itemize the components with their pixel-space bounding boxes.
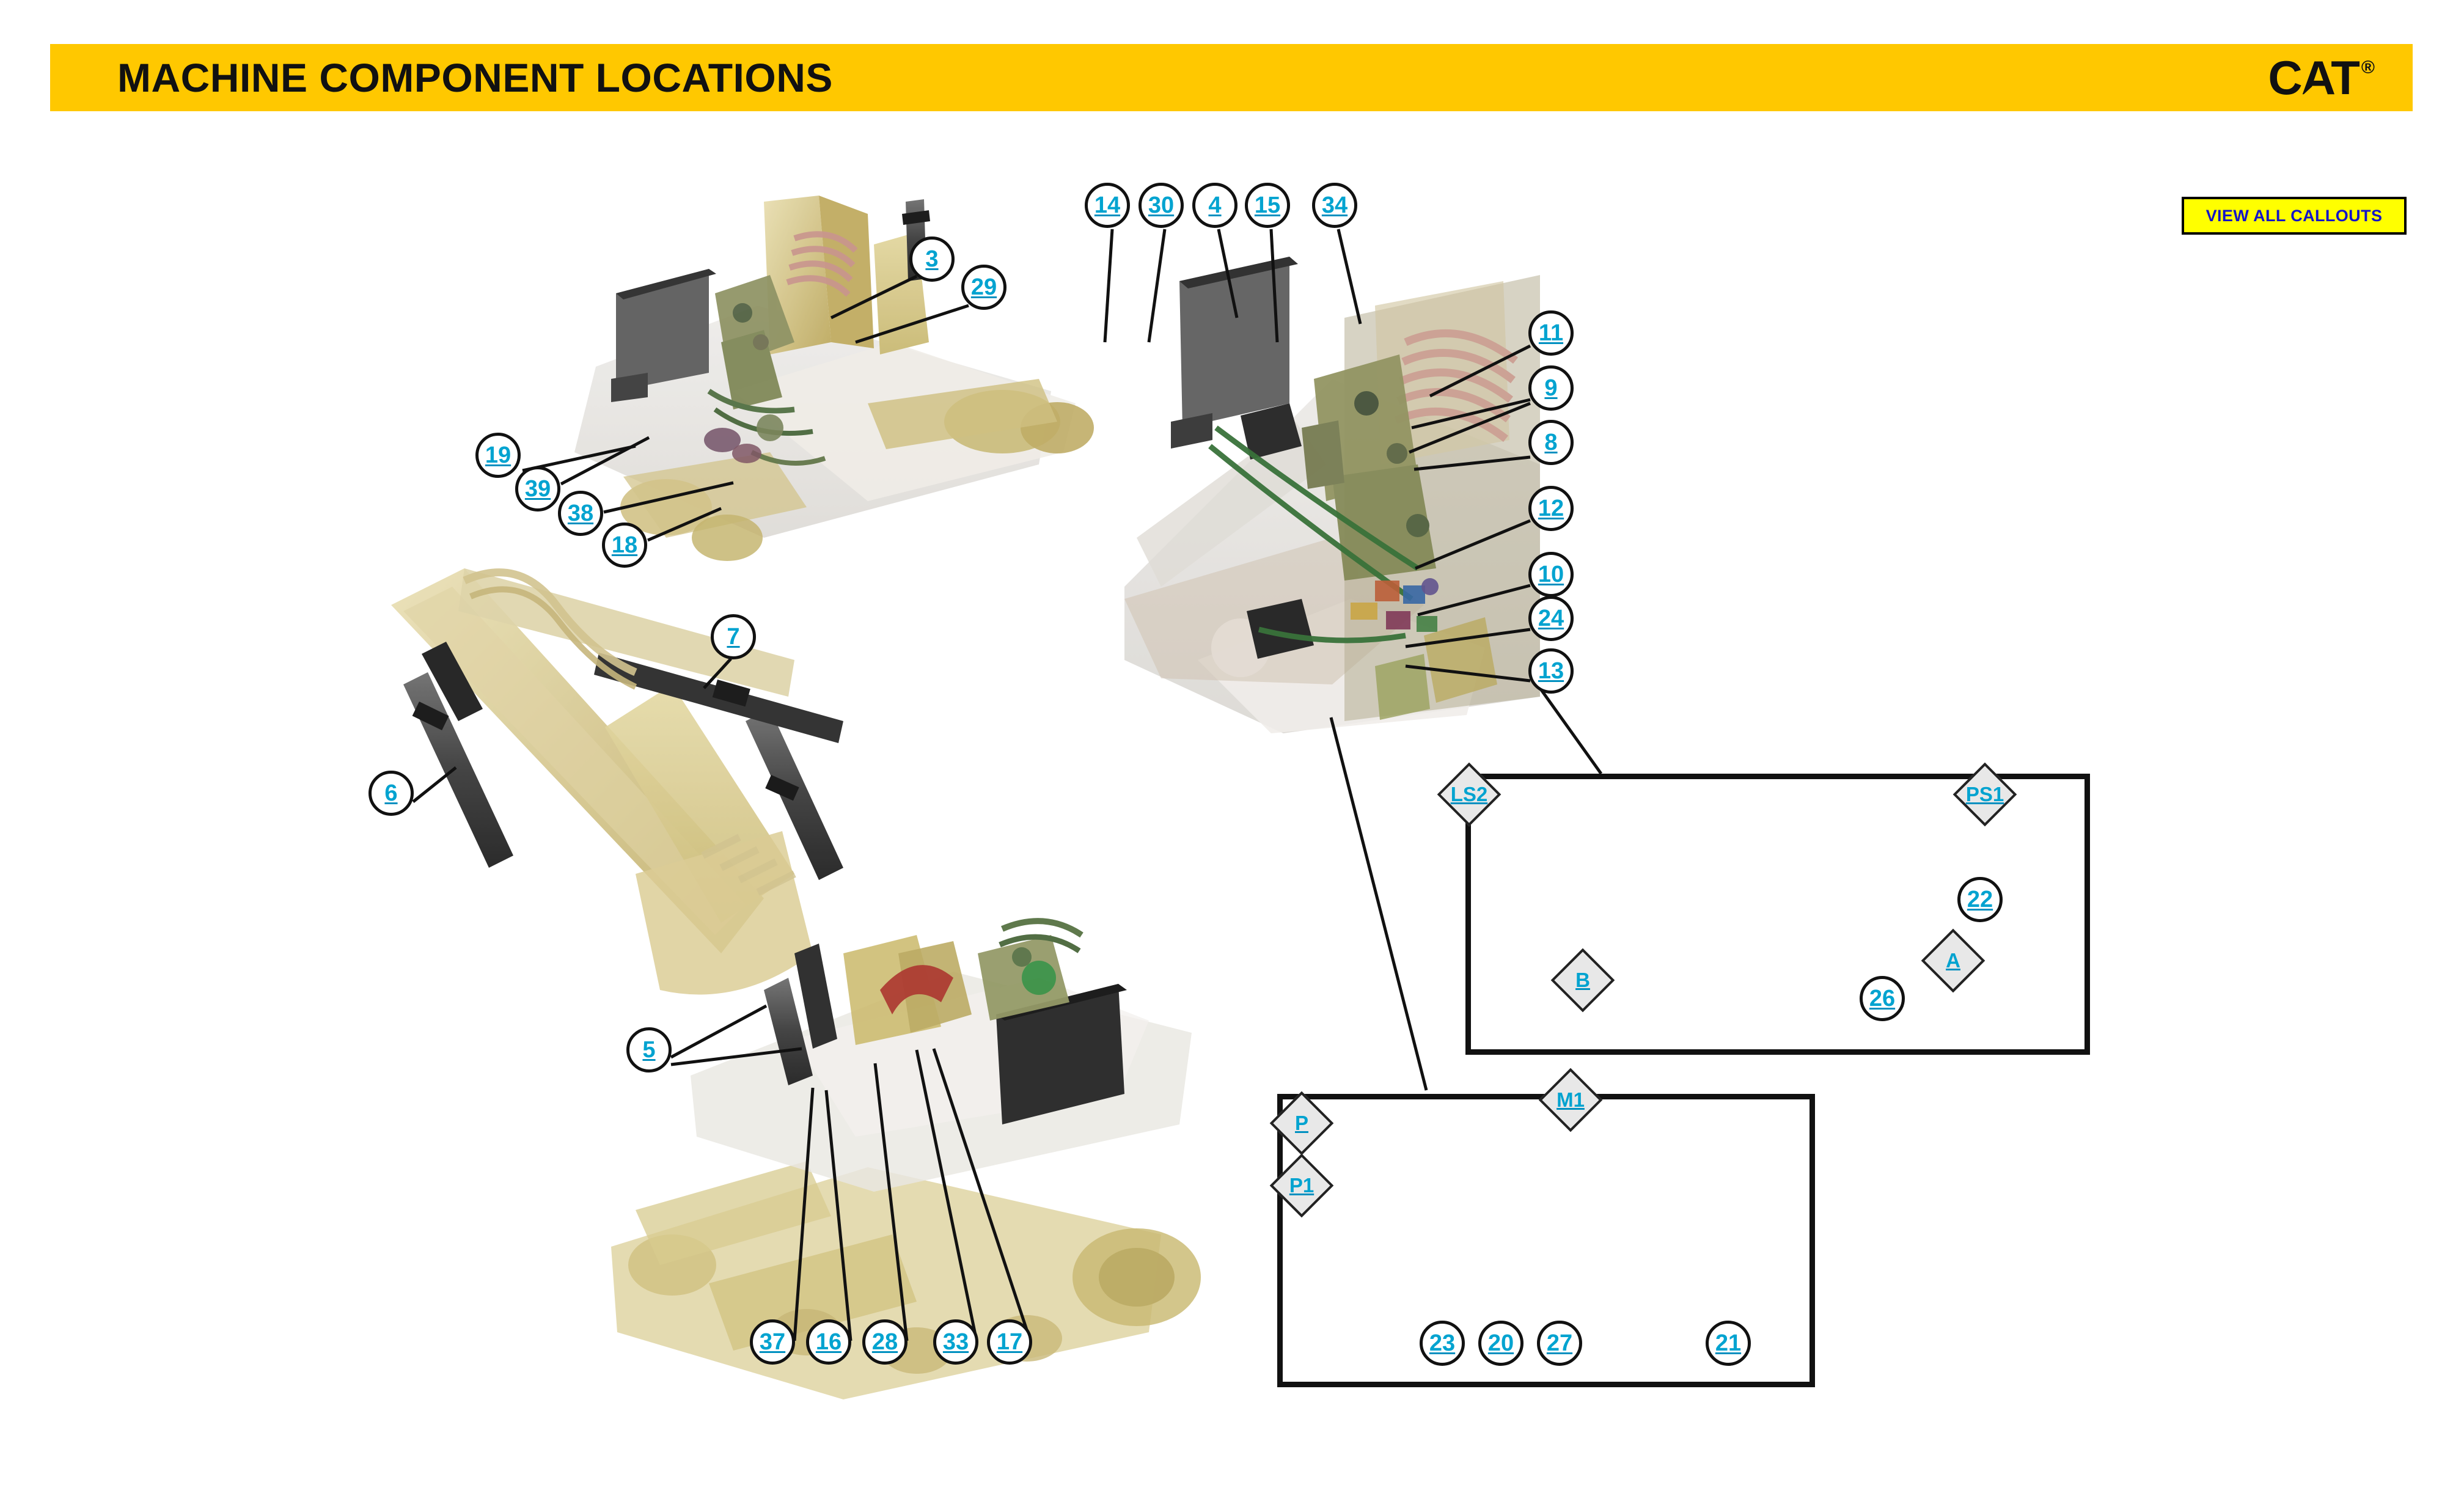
view-all-callouts-button[interactable]: VIEW ALL CALLOUTS: [2182, 197, 2407, 235]
callout-label: 5: [642, 1038, 655, 1061]
callout-14[interactable]: 14: [1085, 183, 1130, 228]
callout-label: 27: [1547, 1332, 1572, 1355]
callout-11[interactable]: 11: [1528, 310, 1574, 356]
callout-38[interactable]: 38: [558, 491, 603, 536]
callout-label: 11: [1539, 321, 1563, 345]
callout-diamond-m1[interactable]: M1: [1539, 1068, 1602, 1132]
callout-4[interactable]: 4: [1192, 183, 1237, 228]
callout-label: 34: [1322, 194, 1347, 217]
page-title: MACHINE COMPONENT LOCATIONS: [117, 54, 833, 101]
callout-label: 15: [1255, 194, 1280, 217]
callout-label: 12: [1538, 497, 1564, 520]
callout-label: 33: [943, 1330, 969, 1354]
callout-diamond-ps1[interactable]: PS1: [1953, 763, 2017, 826]
callout-10[interactable]: 10: [1528, 552, 1574, 597]
callout-label: 9: [1544, 376, 1557, 400]
callout-diamond-p1[interactable]: P1: [1270, 1154, 1333, 1217]
callout-label: 20: [1488, 1332, 1514, 1355]
callout-label: 26: [1869, 987, 1895, 1010]
callout-33[interactable]: 33: [933, 1319, 978, 1365]
callout-3[interactable]: 3: [909, 237, 955, 282]
callout-label: 29: [971, 276, 997, 299]
callout-13[interactable]: 13: [1528, 648, 1574, 694]
callout-15[interactable]: 15: [1245, 183, 1290, 228]
callout-label: 37: [760, 1330, 785, 1354]
callout-diamond-ls2[interactable]: LS2: [1437, 763, 1501, 826]
callout-19[interactable]: 19: [475, 433, 521, 478]
callout-label: 30: [1148, 194, 1174, 217]
callout-diamond-a[interactable]: A: [1921, 929, 1985, 992]
callout-label: 13: [1538, 659, 1564, 683]
callout-label: 7: [727, 625, 739, 648]
callout-23[interactable]: 23: [1420, 1321, 1465, 1366]
callout-diamond-p[interactable]: P: [1270, 1091, 1333, 1155]
callout-39[interactable]: 39: [515, 466, 560, 512]
callout-label: M1: [1539, 1068, 1602, 1132]
callout-label: 6: [384, 782, 397, 805]
callout-label: 3: [925, 248, 938, 271]
callout-20[interactable]: 20: [1478, 1321, 1524, 1366]
callout-label: LS2: [1437, 763, 1501, 826]
callout-label: 8: [1544, 431, 1557, 454]
callout-16[interactable]: 16: [806, 1319, 851, 1365]
callout-8[interactable]: 8: [1528, 420, 1574, 465]
callout-label: 16: [816, 1330, 842, 1354]
callout-label: A: [1921, 929, 1985, 992]
callout-label: 18: [612, 533, 637, 557]
callout-label: 24: [1538, 607, 1564, 630]
callout-label: 39: [525, 477, 551, 501]
callout-9[interactable]: 9: [1528, 365, 1574, 411]
callout-12[interactable]: 12: [1528, 486, 1574, 531]
callout-diamond-b[interactable]: B: [1551, 948, 1615, 1012]
registered-trademark-icon: ®: [2361, 57, 2375, 78]
callout-26[interactable]: 26: [1860, 976, 1905, 1021]
cat-logo: CAT ®: [2268, 55, 2375, 100]
callout-label: PS1: [1953, 763, 2017, 826]
callout-21[interactable]: 21: [1706, 1321, 1751, 1366]
callout-label: P1: [1270, 1154, 1333, 1217]
callout-5[interactable]: 5: [626, 1027, 672, 1072]
callout-6[interactable]: 6: [369, 771, 414, 816]
machine-illustrations: [0, 0, 2464, 1496]
callout-37[interactable]: 37: [750, 1319, 795, 1365]
callout-label: B: [1551, 948, 1615, 1012]
callout-29[interactable]: 29: [961, 265, 1007, 310]
callout-label: 4: [1208, 194, 1221, 217]
callout-label: P: [1270, 1091, 1333, 1155]
callout-label: 21: [1715, 1332, 1741, 1355]
callout-17[interactable]: 17: [987, 1319, 1032, 1365]
callout-27[interactable]: 27: [1537, 1321, 1582, 1366]
callout-7[interactable]: 7: [711, 614, 756, 659]
callout-24[interactable]: 24: [1528, 596, 1574, 641]
callout-label: 14: [1094, 194, 1120, 217]
callout-34[interactable]: 34: [1312, 183, 1357, 228]
callout-label: 17: [997, 1330, 1022, 1354]
callout-18[interactable]: 18: [602, 522, 647, 568]
callout-30[interactable]: 30: [1138, 183, 1184, 228]
cat-logo-wordmark: CAT: [2268, 55, 2359, 100]
callout-label: 23: [1429, 1332, 1455, 1355]
callout-label: 38: [568, 502, 593, 525]
header-bar: MACHINE COMPONENT LOCATIONS CAT ®: [50, 44, 2413, 111]
callout-22[interactable]: 22: [1957, 877, 2003, 922]
callout-28[interactable]: 28: [862, 1319, 908, 1365]
callout-label: 19: [485, 444, 511, 467]
view-all-callouts-label: VIEW ALL CALLOUTS: [2206, 207, 2383, 226]
callout-label: 10: [1538, 563, 1564, 586]
callout-label: 28: [872, 1330, 898, 1354]
callout-label: 22: [1967, 888, 1993, 911]
